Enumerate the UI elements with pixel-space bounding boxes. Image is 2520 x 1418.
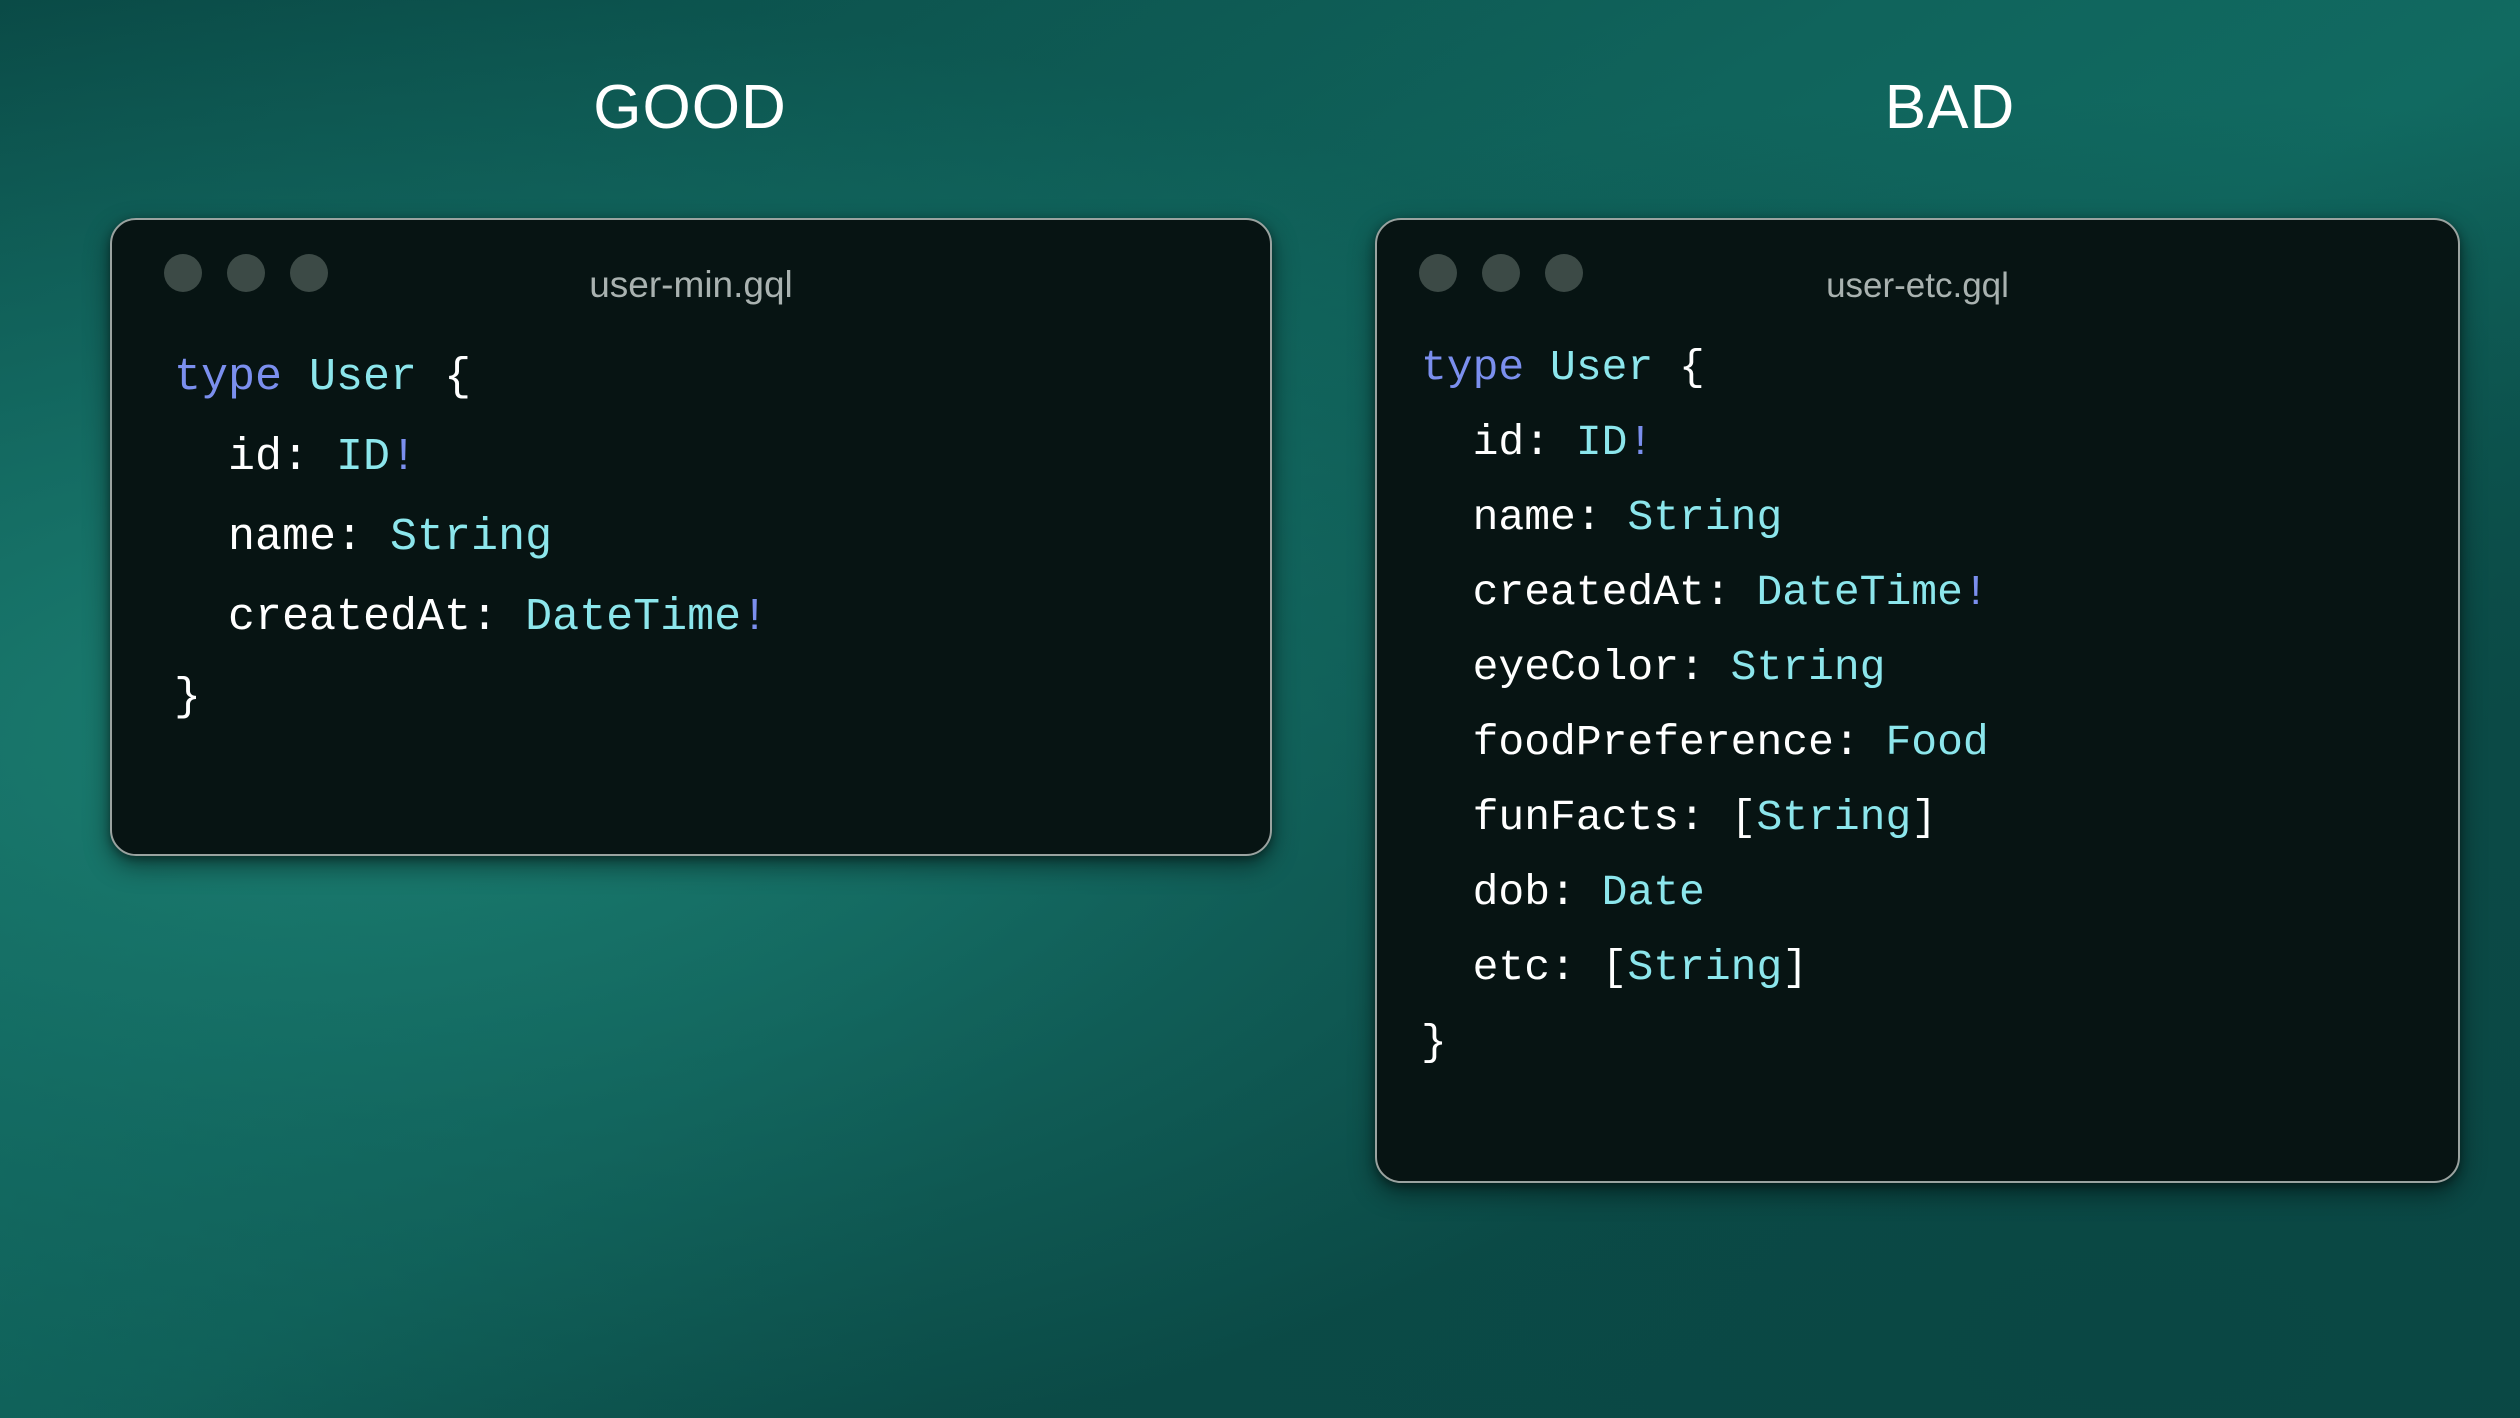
code-token-plain: name: xyxy=(1421,493,1627,542)
code-line: foodPreference: Food xyxy=(1421,705,2458,780)
code-block: type User { id: ID! name: String created… xyxy=(112,316,1270,738)
code-token-plain: etc: [ xyxy=(1421,943,1627,992)
code-token-type: ID xyxy=(336,432,390,483)
code-token-type: DateTime xyxy=(525,592,741,643)
code-token-type: String xyxy=(390,512,552,563)
code-line: funFacts: [String] xyxy=(1421,780,2458,855)
window-filename: user-etc.gql xyxy=(1377,266,2458,306)
code-token-plain: foodPreference: xyxy=(1421,718,1885,767)
code-token-plain: } xyxy=(1421,1018,1447,1067)
code-line: createdAt: DateTime! xyxy=(174,578,1270,658)
code-token-kw: ! xyxy=(1627,418,1653,467)
code-line: dob: Date xyxy=(1421,855,2458,930)
code-token-plain: funFacts: [ xyxy=(1421,793,1756,842)
code-window-bad: user-etc.gql type User { id: ID! name: S… xyxy=(1375,218,2460,1183)
code-token-type: Food xyxy=(1885,718,1988,767)
code-line: createdAt: DateTime! xyxy=(1421,555,2458,630)
code-token-plain: createdAt: xyxy=(1421,568,1756,617)
code-token-kw: type xyxy=(174,352,309,403)
code-token-kw: ! xyxy=(741,592,768,643)
code-token-plain: { xyxy=(417,352,471,403)
code-token-plain: { xyxy=(1653,343,1705,392)
code-token-plain: createdAt: xyxy=(174,592,525,643)
window-titlebar: user-etc.gql xyxy=(1377,220,2458,316)
code-token-type: Date xyxy=(1602,868,1705,917)
code-line: type User { xyxy=(1421,330,2458,405)
code-line: name: String xyxy=(1421,480,2458,555)
code-token-plain: ] xyxy=(1911,793,1937,842)
window-titlebar: user-min.gql xyxy=(112,220,1270,316)
column-heading-bad: BAD xyxy=(1380,72,2520,143)
comparison-stage: GOOD BAD user-min.gql type User { id: ID… xyxy=(0,0,2520,1418)
code-token-type: DateTime xyxy=(1756,568,1962,617)
code-token-plain: ] xyxy=(1782,943,1808,992)
code-token-plain: } xyxy=(174,672,201,723)
code-token-type: String xyxy=(1731,643,1886,692)
code-token-kw: ! xyxy=(1963,568,1989,617)
code-token-type: ID xyxy=(1576,418,1628,467)
code-token-type: String xyxy=(1627,493,1782,542)
code-window-good: user-min.gql type User { id: ID! name: S… xyxy=(110,218,1272,856)
code-line: id: ID! xyxy=(1421,405,2458,480)
column-heading-good: GOOD xyxy=(0,72,1380,143)
code-token-plain: name: xyxy=(174,512,390,563)
code-line: etc: [String] xyxy=(1421,930,2458,1005)
code-token-plain: id: xyxy=(1421,418,1576,467)
code-token-type: User xyxy=(1550,343,1653,392)
code-line: } xyxy=(174,658,1270,738)
code-line: eyeColor: String xyxy=(1421,630,2458,705)
code-token-type: User xyxy=(309,352,417,403)
code-token-kw: type xyxy=(1421,343,1550,392)
code-line: } xyxy=(1421,1005,2458,1080)
window-filename: user-min.gql xyxy=(112,264,1270,306)
code-token-type: String xyxy=(1627,943,1782,992)
code-line: type User { xyxy=(174,338,1270,418)
code-block: type User { id: ID! name: String created… xyxy=(1377,316,2458,1080)
code-token-type: String xyxy=(1756,793,1911,842)
code-line: name: String xyxy=(174,498,1270,578)
code-token-plain: eyeColor: xyxy=(1421,643,1731,692)
code-line: id: ID! xyxy=(174,418,1270,498)
code-token-plain: dob: xyxy=(1421,868,1602,917)
code-token-plain: id: xyxy=(174,432,336,483)
code-token-kw: ! xyxy=(390,432,417,483)
